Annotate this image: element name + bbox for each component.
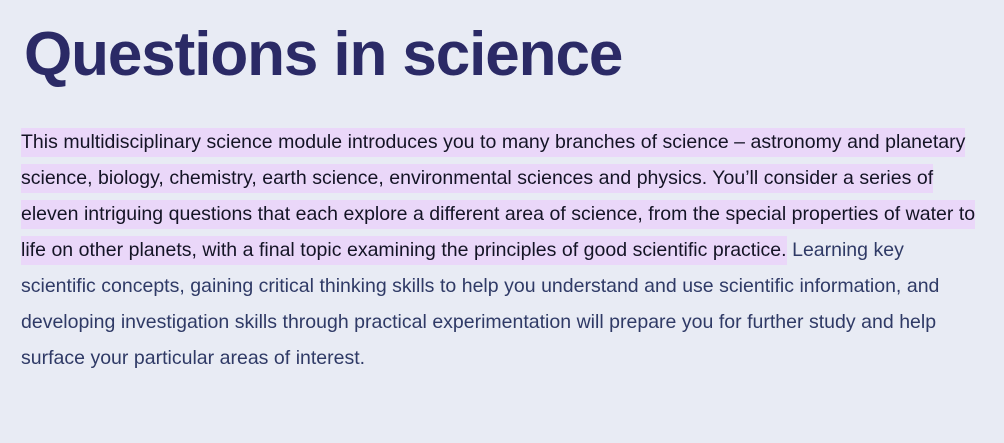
- module-description: This multidisciplinary science module in…: [21, 124, 979, 376]
- page-title: Questions in science: [24, 18, 622, 92]
- page-root: Questions in science This multidisciplin…: [0, 0, 1004, 443]
